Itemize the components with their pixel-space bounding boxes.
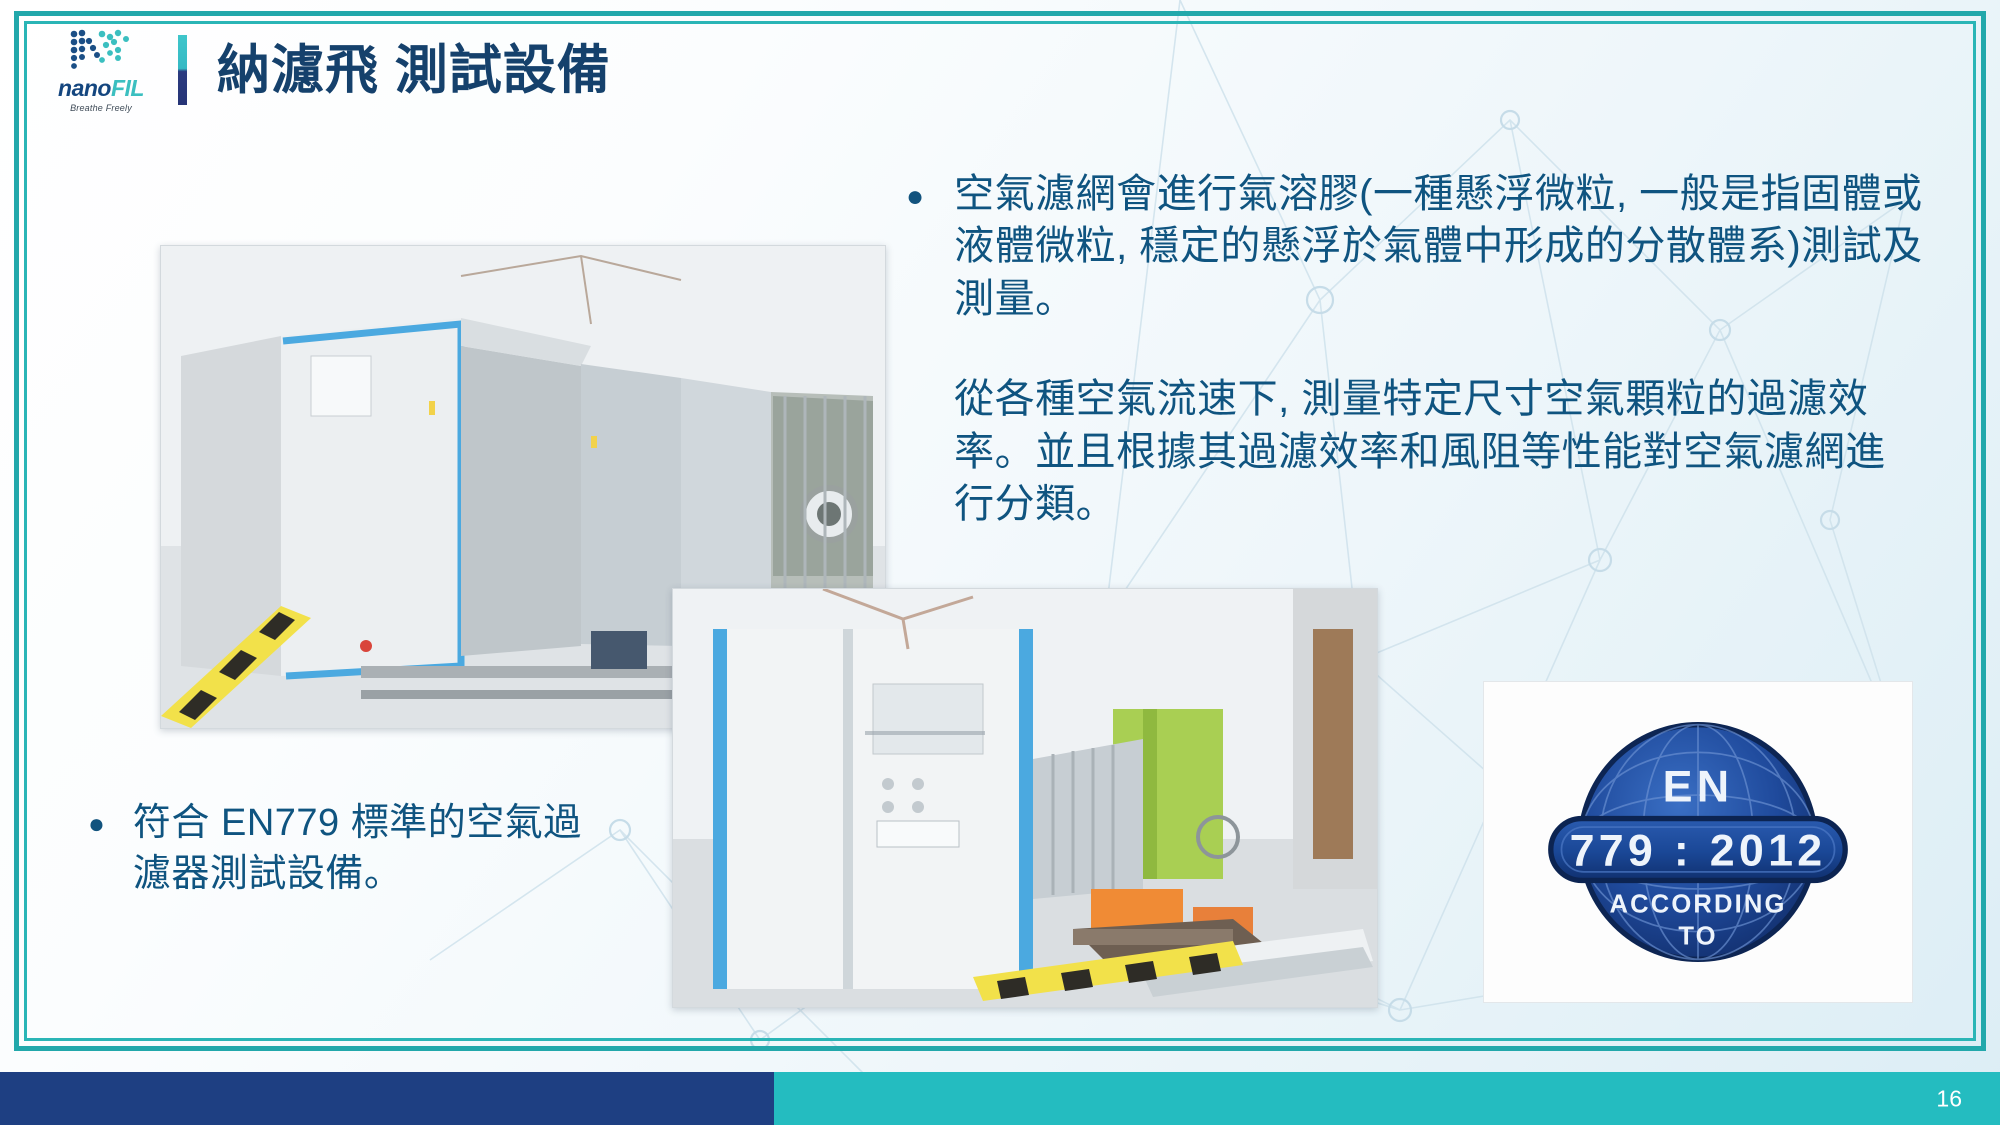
logo-word-nano: nano bbox=[58, 75, 111, 101]
right-paragraph-1: 空氣濾網會進行氣溶膠(一種懸浮微粒, 一般是指固體或液體微粒, 穩定的懸浮於氣體… bbox=[954, 168, 1926, 325]
left-bullet-block: ● 符合 EN779 標準的空氣過濾器測試設備。 bbox=[88, 798, 608, 900]
logo-wordmark: nanoFIL bbox=[58, 77, 144, 100]
page-number: 16 bbox=[1936, 1085, 1962, 1112]
slide-footer: 16 bbox=[0, 1072, 2000, 1125]
footer-bar-navy bbox=[0, 1072, 774, 1125]
bullet-marker-icon: ● bbox=[906, 182, 924, 212]
presentation-slide: nanoFIL Breathe Freely 納濾飛 測試設備 bbox=[0, 0, 2000, 1125]
right-bullet-block: ● 空氣濾網會進行氣溶膠(一種懸浮微粒, 一般是指固體或液體微粒, 穩定的懸浮於… bbox=[906, 168, 1926, 530]
badge-line-main: 779 : 2012 bbox=[1570, 825, 1827, 875]
header-divider bbox=[178, 35, 187, 105]
page-title: 納濾飛 測試設備 bbox=[217, 44, 611, 97]
photo-filter-test-system bbox=[672, 588, 1378, 1008]
en779-certification-badge: EN 779 : 2012 ACCORDING TO bbox=[1483, 681, 1913, 1003]
bullet-marker-icon: ● bbox=[88, 810, 105, 838]
footer-bar-teal: 16 bbox=[774, 1072, 2000, 1125]
slide-header: nanoFIL Breathe Freely 納濾飛 測試設備 bbox=[46, 22, 611, 118]
left-paragraph-1: 符合 EN779 標準的空氣過濾器測試設備。 bbox=[133, 798, 608, 900]
badge-line-bottom-2: TO bbox=[1678, 922, 1717, 950]
badge-line-bottom-1: ACCORDING bbox=[1609, 890, 1786, 918]
en779-badge-graphic: EN 779 : 2012 ACCORDING TO bbox=[1484, 682, 1912, 1002]
right-paragraph-2: 從各種空氣流速下, 測量特定尺寸空氣顆粒的過濾效率。並且根據其過濾效率和風阻等性… bbox=[954, 373, 1926, 530]
photo-2-graphic bbox=[673, 589, 1377, 1007]
logo-dotted-n-icon bbox=[66, 28, 136, 74]
logo-word-fil: FIL bbox=[111, 75, 144, 101]
nanofil-logo: nanoFIL Breathe Freely bbox=[46, 26, 156, 114]
badge-line-top: EN bbox=[1663, 761, 1734, 811]
logo-tagline: Breathe Freely bbox=[70, 103, 132, 113]
